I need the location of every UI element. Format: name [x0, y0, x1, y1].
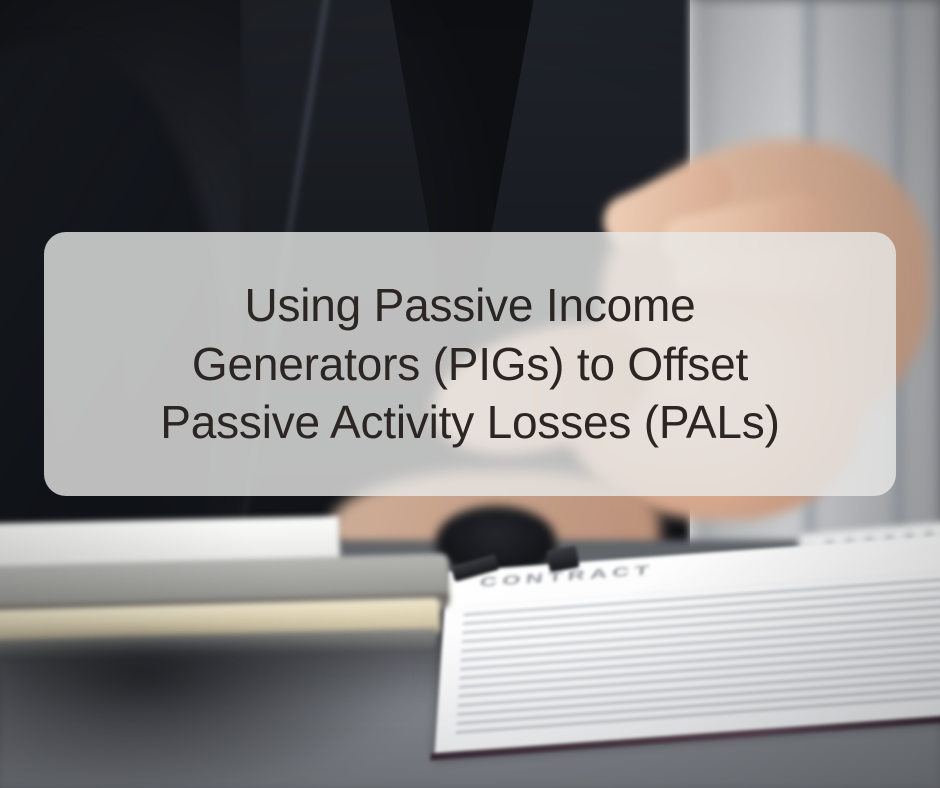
title-line-3: Passive Activity Losses (PALs): [160, 393, 779, 452]
title-line-1: Using Passive Income: [244, 276, 695, 335]
title-line-2: Generators (PIGs) to Offset: [192, 335, 748, 394]
book-drop-shadow: [0, 640, 420, 788]
featured-image-canvas: CONTRACT Using Passive Income Generators…: [0, 0, 940, 788]
title-overlay-panel: Using Passive Income Generators (PIGs) t…: [44, 232, 896, 496]
